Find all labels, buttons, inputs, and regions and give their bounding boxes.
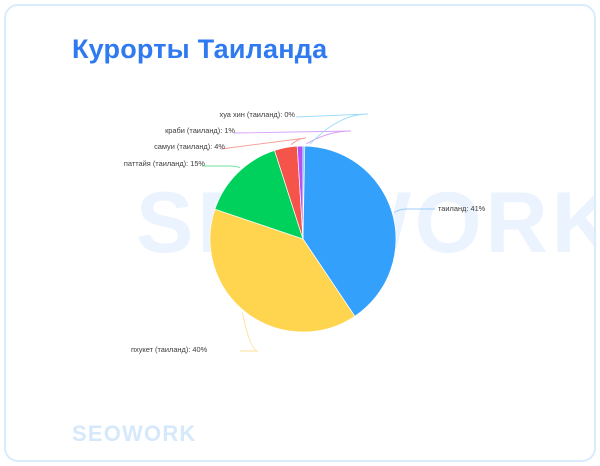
pie-chart: таиланд: 41% пхукет (таиланд): 40% патта…: [6, 6, 594, 460]
slice-label-phuket: пхукет (таиланд): 40%: [131, 346, 207, 354]
leader-line-4: [234, 131, 351, 144]
leader-line-2: [202, 166, 240, 168]
pie-chart-svg: [6, 6, 594, 460]
leader-line-5: [296, 114, 368, 144]
slice-label-huahin: хуа хин (таиланд): 0%: [145, 111, 295, 119]
slice-label-pattaya: паттайя (таиланд): 15%: [55, 160, 205, 168]
slice-label-thailand: таиланд: 41%: [438, 205, 485, 213]
slice-label-krabi: краби (таиланд): 1%: [95, 127, 235, 135]
slice-label-samui: самуи (таиланд): 4%: [75, 143, 225, 151]
seowork-footer-logo: SEOWORK: [72, 421, 197, 447]
leader-line-0: [394, 209, 435, 213]
pie-slices: [210, 146, 396, 332]
chart-card: Курорты Таиланда SEOWORK таиланд: 41% пх…: [4, 4, 596, 462]
